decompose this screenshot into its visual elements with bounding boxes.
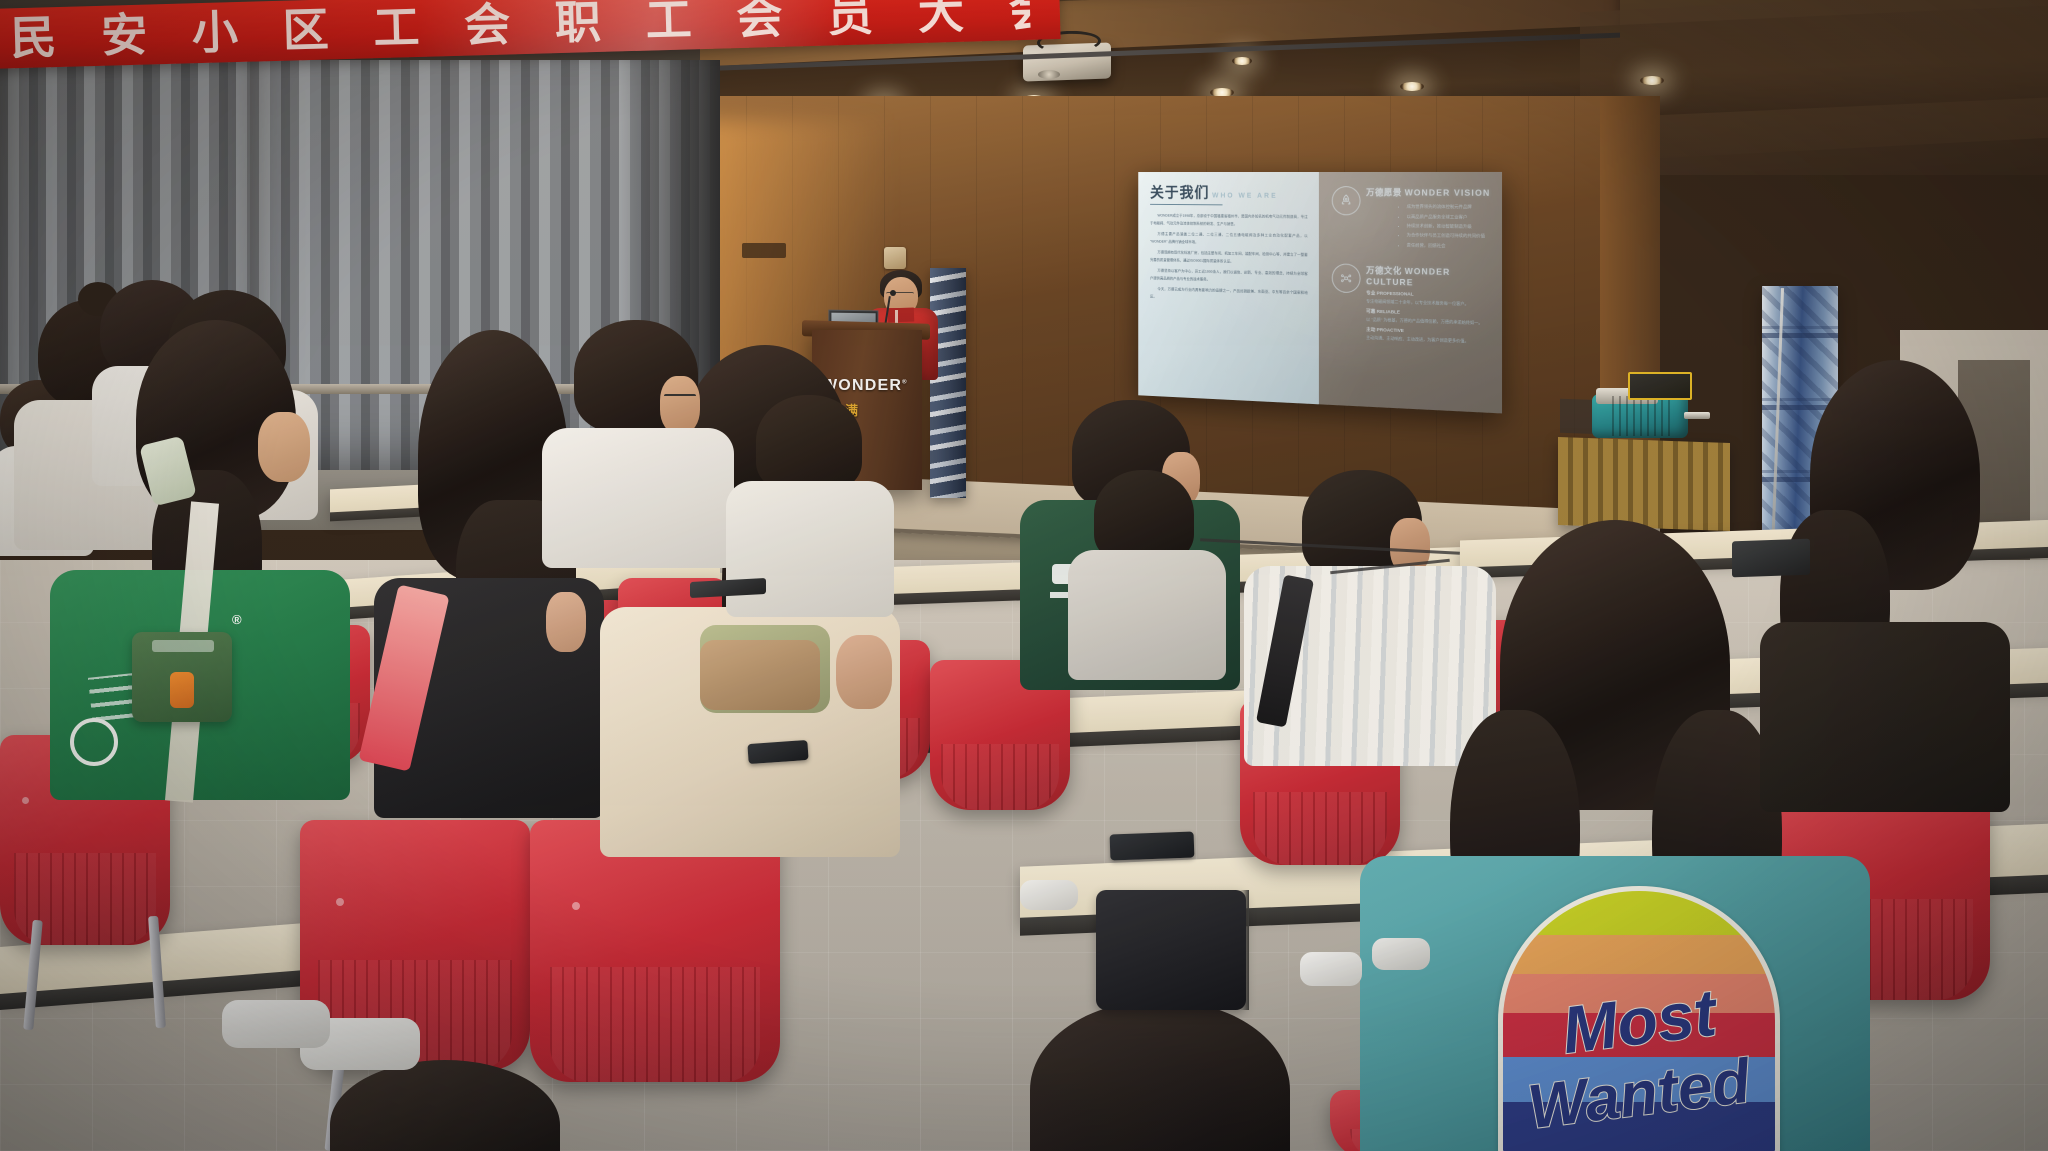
face [258,412,310,482]
draped-bag [700,640,820,710]
bag-logo-strip [152,640,214,652]
speaker-collar [888,308,914,323]
shoe [1300,952,1362,986]
downlight-icon [1232,57,1252,65]
most-wanted-logo: Most Wanted [1498,886,1780,1151]
shoe [222,1000,330,1048]
microphone-icon [890,290,896,296]
downlight-icon [1400,82,1424,91]
shoe [1020,880,1078,910]
screen-glare [1138,172,1502,413]
chair[interactable] [530,820,780,1082]
laptop-on-desk[interactable] [1732,539,1810,578]
registered-mark: ® [902,380,908,386]
backpack-under-desk [1096,890,1246,1010]
tee-registered-mark: ® [232,612,242,627]
attendee [1030,1000,1290,1151]
shoe [1372,938,1430,970]
roll-up-banner-shading [930,268,966,498]
attendee [726,395,886,595]
tee-circle-mark [70,718,118,766]
attendee [330,1060,560,1151]
glasses-icon [664,394,696,401]
downlight-icon [1640,76,1664,85]
attendee-white-tee [552,320,722,550]
ceiling-projector [1023,42,1111,81]
arm [836,635,892,709]
smartphone-on-desk[interactable] [747,740,808,764]
projector-lens-icon [1038,70,1060,79]
attendee [1068,470,1218,660]
bag-charm-icon [170,672,194,708]
lecture-hall-photo: 关于我们WHO WE ARE WONDER成立于1998年，总部设于中国福建省福… [0,0,2048,1151]
shoulder-skin [546,592,586,652]
motor-display-stand [1558,437,1730,531]
wall-socket-plate [884,247,906,269]
smartphone-on-desk[interactable] [1110,832,1195,861]
white-tee [542,428,734,568]
wall-sign-plate [742,243,786,258]
cutaway-electric-motor [1572,372,1714,446]
